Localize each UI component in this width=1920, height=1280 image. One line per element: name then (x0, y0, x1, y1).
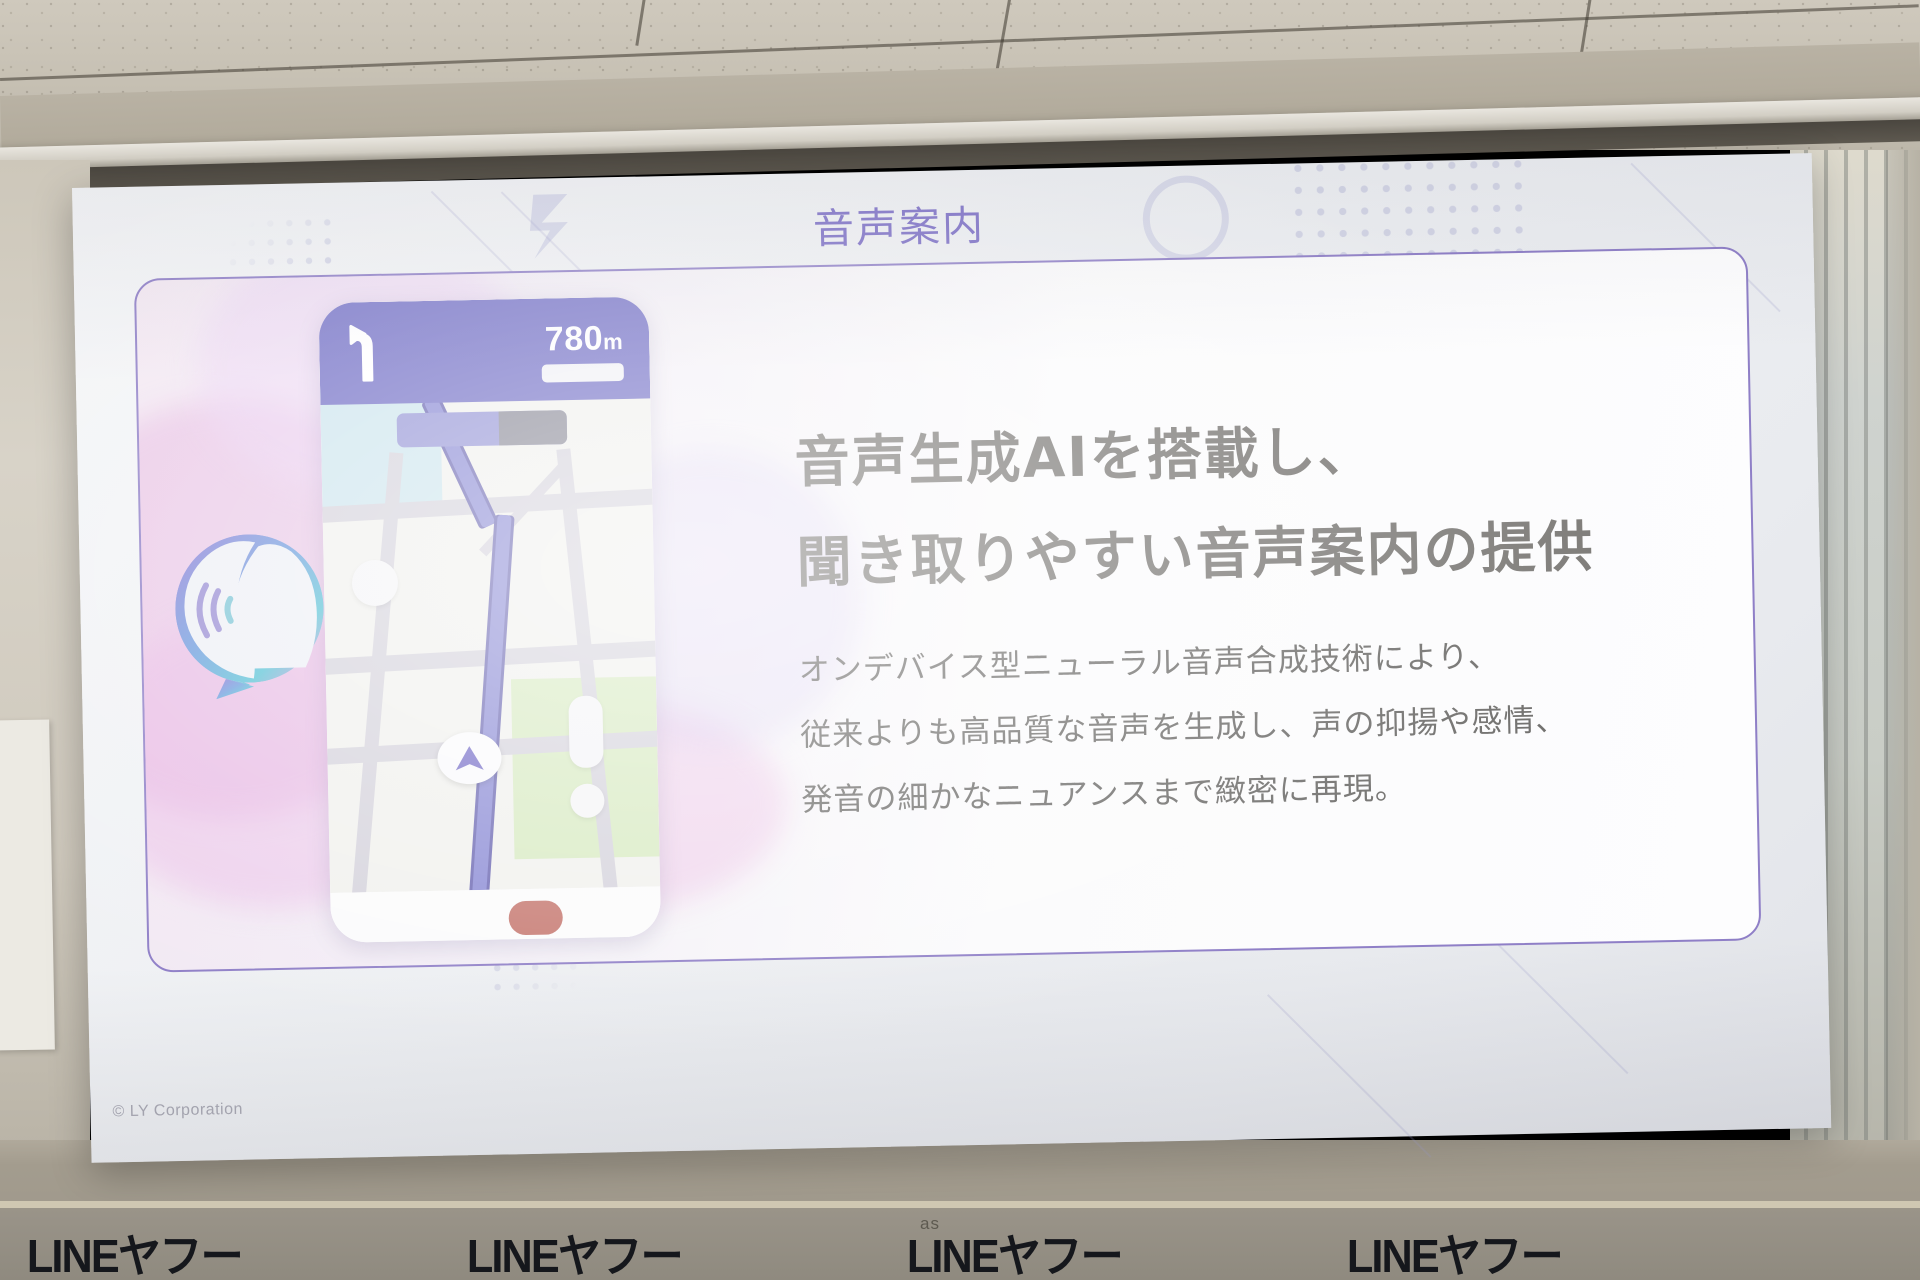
photo-of-projected-slide: 音声案内 (0, 0, 1920, 1280)
map-poi-dot (352, 560, 399, 607)
banner-logo-lineyahoo: LINEヤフー (907, 1220, 1122, 1280)
turn-left-arrow-icon (345, 322, 398, 385)
current-position-marker (437, 731, 502, 784)
map-control-pill[interactable] (568, 695, 603, 768)
map-label-strip (499, 410, 568, 445)
body-line-1: オンデバイス型ニューラル音声合成技術により、 (798, 630, 1500, 689)
banner-logo-lineyahoo: LINEヤフー (27, 1220, 242, 1280)
navigation-arrow-icon (437, 731, 502, 784)
slide-title: 音声案内 (812, 192, 985, 255)
projection-screen: 音声案内 (72, 153, 1831, 1163)
content-card: 780m (134, 246, 1762, 972)
distance-value: 780 (544, 319, 603, 358)
decorative-lightning-shape (527, 190, 574, 263)
headline-line-2: 聞き取りやすい音声案内の提供 (796, 502, 1595, 598)
headline-line-1: 音声生成AIを搭載し、 (794, 406, 1376, 498)
decorative-diagonal-line (1267, 994, 1431, 1158)
remaining-distance: 780m (544, 319, 623, 360)
decorative-circle (1142, 175, 1230, 263)
phone-bottom-bar (330, 886, 661, 943)
wall-poster (0, 720, 55, 1051)
distance-unit: m (603, 329, 624, 354)
right-wall-edge (1886, 150, 1920, 1160)
speech-bubble-voice-icon (163, 527, 336, 700)
body-line-2: 従来よりも高品質な音声を生成し、声の抑揚や感情、 (800, 694, 1568, 754)
body-line-3: 発音の細かなニュアンスまで緻密に再現。 (801, 762, 1407, 819)
blind-slat (1844, 150, 1848, 1160)
blind-slat (1864, 150, 1868, 1160)
map-view: 780m (318, 296, 660, 893)
phone-mockup: 780m (318, 296, 661, 942)
banner-logo-lineyahoo: LINEヤフー (1347, 1220, 1562, 1280)
decorative-dot-triangle (223, 213, 334, 277)
copyright-notice: © LY Corporation (112, 1101, 243, 1122)
sponsor-banner: as LINEヤフー LINEヤフー LINEヤフー LINEヤフー (0, 1201, 1920, 1280)
navigation-progress-bar (542, 363, 624, 383)
banner-logo-lineyahoo: LINEヤフー (467, 1220, 682, 1280)
navigation-header: 780m (318, 296, 650, 405)
end-navigation-button[interactable] (508, 900, 563, 935)
